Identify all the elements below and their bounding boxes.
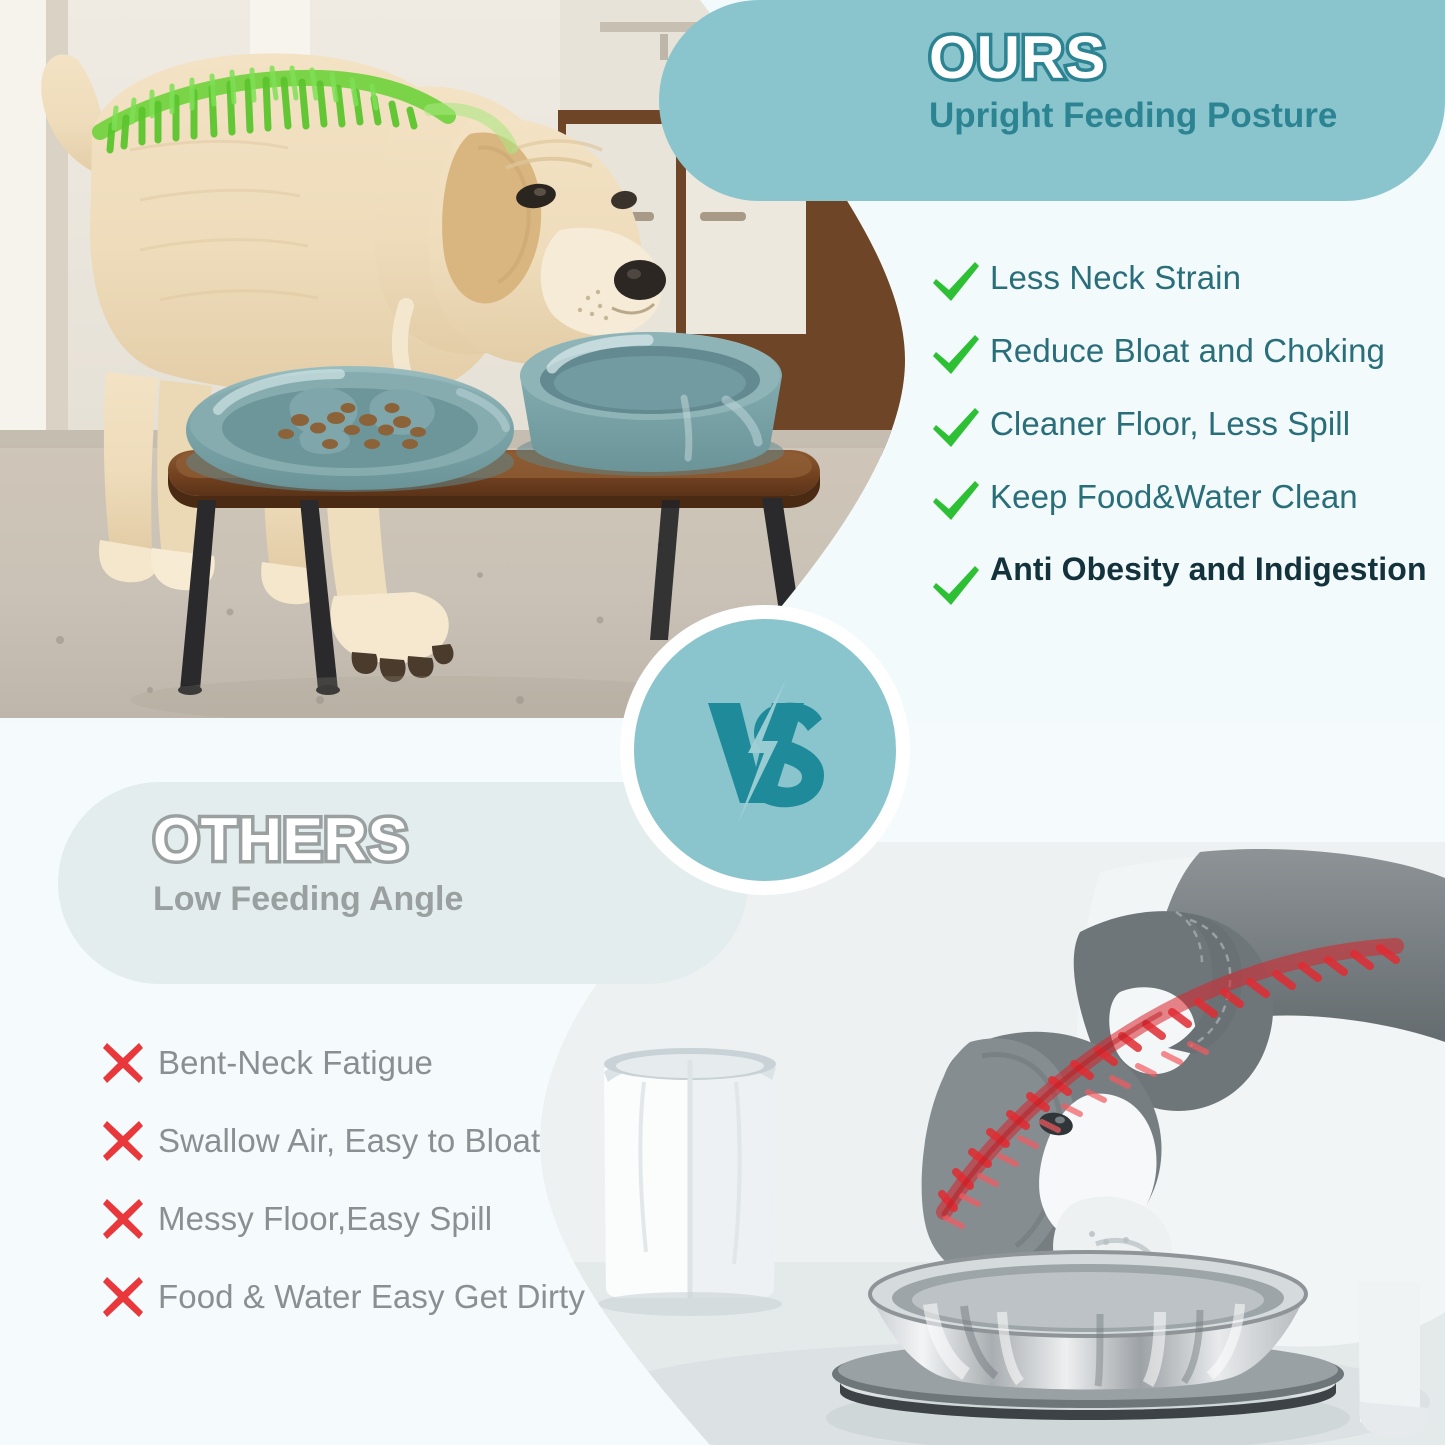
pros-list-item: Less Neck Strain [930,258,1442,304]
ours-subtitle: Upright Feeding Posture [929,97,1445,136]
pros-list-item: Anti Obesity and Indigestion [930,550,1442,608]
ours-title: OURS [929,26,1445,89]
pros-list-item: Keep Food&Water Clean [930,477,1442,523]
infographic-root: OURS Upright Feeding Posture Less Neck S… [0,0,1445,1445]
cons-item-label: Messy Floor,Easy Spill [158,1200,492,1238]
cons-list: Bent-Neck Fatigue Swallow Air, Easy to B… [100,1040,720,1320]
pros-item-label: Keep Food&Water Clean [990,477,1358,517]
pros-list-item: Reduce Bloat and Choking [930,331,1442,377]
check-icon [930,260,982,304]
pros-item-label: Anti Obesity and Indigestion [990,550,1427,589]
pros-item-label: Cleaner Floor, Less Spill [990,404,1350,444]
cons-item-label: Food & Water Easy Get Dirty [158,1278,585,1316]
vs-badge [620,605,910,895]
pros-list: Less Neck Strain Reduce Bloat and Chokin… [930,258,1442,608]
cons-list-item: Swallow Air, Easy to Bloat [100,1118,720,1164]
x-icon [100,1274,146,1320]
cons-item-label: Swallow Air, Easy to Bloat [158,1122,540,1160]
ours-banner: OURS Upright Feeding Posture [659,0,1445,201]
check-icon [930,333,982,377]
pros-list-item: Cleaner Floor, Less Spill [930,404,1442,450]
x-icon [100,1196,146,1242]
check-icon [930,406,982,450]
cons-list-item: Messy Floor,Easy Spill [100,1196,720,1242]
others-subtitle: Low Feeding Angle [153,881,748,918]
x-icon [100,1118,146,1164]
check-icon [930,479,982,523]
cons-item-label: Bent-Neck Fatigue [158,1044,433,1082]
x-icon [100,1040,146,1086]
vs-lightning-icon [690,675,840,825]
cons-list-item: Food & Water Easy Get Dirty [100,1274,720,1320]
pros-item-label: Less Neck Strain [990,258,1241,298]
check-icon [930,564,982,608]
cons-list-item: Bent-Neck Fatigue [100,1040,720,1086]
pros-item-label: Reduce Bloat and Choking [990,331,1385,371]
